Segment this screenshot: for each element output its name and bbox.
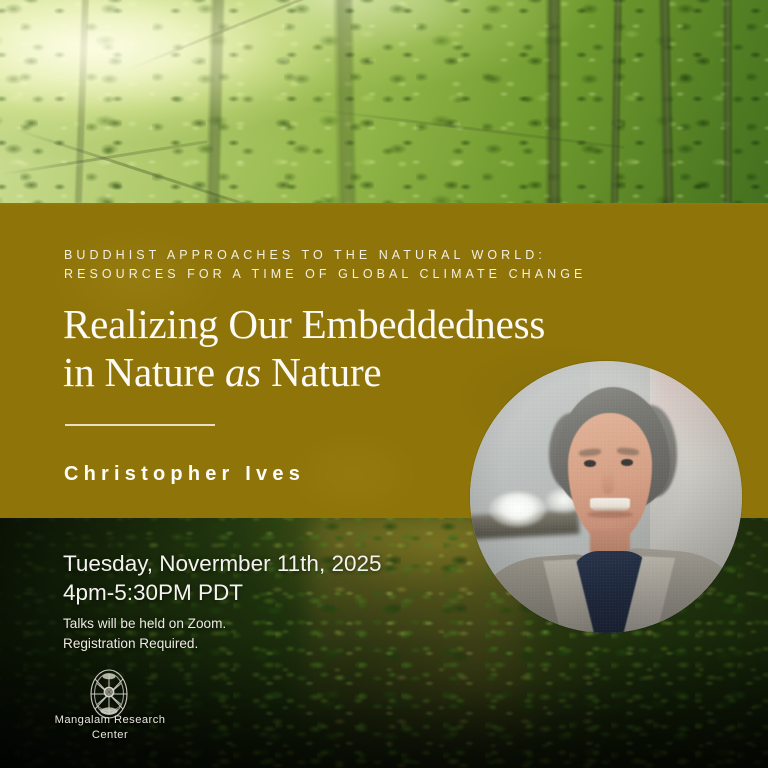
registration-note: Talks will be held on Zoom. Registration…	[63, 614, 443, 653]
speaker-name: Christopher Ives	[64, 463, 305, 486]
event-poster: BUDDHIST APPROACHES TO THE NATURAL WORLD…	[0, 0, 768, 768]
event-datetime: Tuesday, Novermber 11th, 2025 4pm-5:30PM…	[63, 549, 493, 607]
series-title: BUDDHIST APPROACHES TO THE NATURAL WORLD…	[64, 246, 664, 284]
talk-title-line2-before: in Nature	[63, 349, 225, 395]
portrait-eye-left	[584, 460, 595, 466]
organization-name: Mangalam Research Center	[48, 713, 172, 742]
portrait-nose	[602, 470, 614, 494]
talk-title-line2-after: Nature	[261, 349, 381, 395]
tree-trunk	[722, 0, 733, 206]
divider-rule	[65, 424, 215, 426]
forest-canopy-photo	[0, 0, 768, 206]
portrait-lower-lip	[587, 511, 633, 518]
talk-title-line1: Realizing Our Embeddedness	[63, 301, 545, 347]
portrait-eye-right	[621, 459, 632, 465]
talk-title-line2-italic: as	[225, 349, 261, 395]
canopy-leaf-texture-light	[0, 0, 768, 206]
speaker-portrait	[470, 361, 742, 633]
tree-trunk	[332, 0, 358, 206]
tree-trunk	[545, 0, 562, 206]
portrait-light-reflection	[489, 492, 546, 527]
